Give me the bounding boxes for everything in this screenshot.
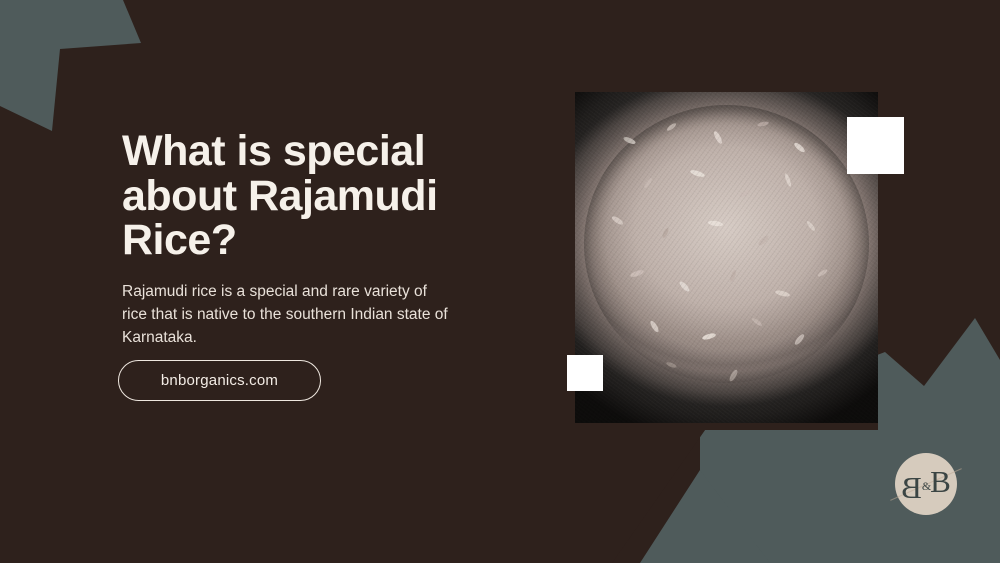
photo-vignette — [575, 92, 878, 423]
body-text: Rajamudi rice is a special and rare vari… — [122, 281, 452, 350]
rice-photo — [575, 92, 878, 423]
page-title: What is special about Rajamudi Rice? — [122, 129, 522, 263]
website-cta-button[interactable]: bnborganics.com — [118, 360, 321, 401]
logo-monogram: B & B — [902, 469, 950, 500]
promo-slide: What is special about Rajamudi Rice? Raj… — [0, 0, 1000, 563]
brand-logo[interactable]: B & B — [895, 453, 957, 515]
logo-ampersand: & — [922, 480, 930, 492]
brown-wedge-bottom — [0, 430, 705, 563]
white-square-bottom-left — [567, 355, 603, 391]
logo-left-letter: B — [902, 472, 922, 503]
cta-label: bnborganics.com — [161, 372, 278, 389]
star-shape-top-left — [0, 0, 141, 131]
logo-right-letter: B — [930, 466, 950, 497]
white-square-top-right — [847, 117, 904, 174]
